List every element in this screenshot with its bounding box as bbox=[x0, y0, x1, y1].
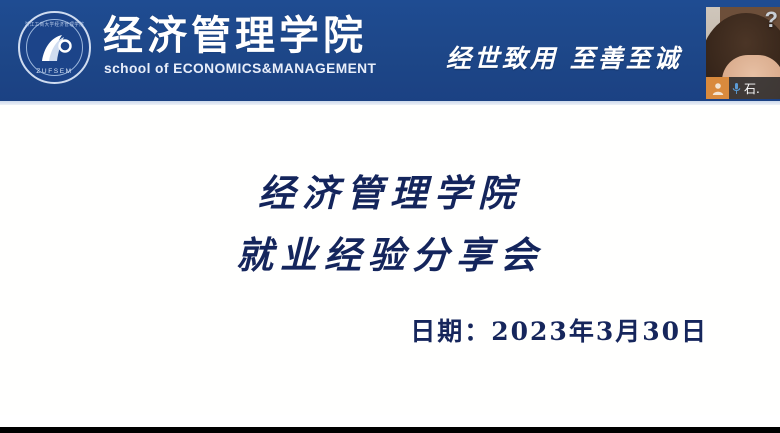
bottom-letterbox-bar bbox=[0, 427, 780, 433]
person-avatar-icon bbox=[712, 82, 724, 95]
emblem-ring-text-cn: 浙江工商大学经济管理学院 bbox=[23, 21, 85, 28]
presentation-viewer: 浙江工商大学经济管理学院 ZUFSEM 经济管理学院 school of ECO… bbox=[0, 0, 780, 433]
emblem-swoosh-mark bbox=[38, 33, 72, 63]
school-motto: 经世致用 至善至诚 bbox=[446, 44, 682, 74]
school-name-en: school of ECONOMICS&MANAGEMENT bbox=[104, 61, 376, 76]
participant-name: 石. bbox=[744, 80, 760, 97]
slide-date-value: 2023年3月30日 bbox=[491, 317, 708, 346]
emblem-ring-text-en: ZUFSEM bbox=[20, 68, 89, 75]
school-name-cn: 经济管理学院 bbox=[103, 14, 367, 58]
microphone-icon bbox=[732, 82, 741, 95]
slide-header-band: 浙江工商大学经济管理学院 ZUFSEM 经济管理学院 school of ECO… bbox=[0, 0, 780, 101]
slide-date: 日期：2023年3月30日 bbox=[410, 317, 708, 347]
help-question-icon[interactable]: ? bbox=[765, 9, 778, 31]
horizontal-scrollbar-track[interactable] bbox=[0, 415, 780, 427]
page-title: 经济管理学院 就业经验分享会 bbox=[0, 162, 780, 286]
slide-content: 经济管理学院 就业经验分享会 日期：2023年3月30日 经管新青年 1 bbox=[0, 105, 780, 415]
avatar bbox=[706, 77, 729, 99]
participant-name-bar: 石. bbox=[706, 77, 780, 99]
video-participant-tile[interactable]: ? 石. bbox=[706, 7, 780, 99]
school-emblem-logo: 浙江工商大学经济管理学院 ZUFSEM bbox=[18, 11, 91, 84]
slide-title-line-2: 就业经验分享会 bbox=[0, 224, 780, 286]
slide-date-label: 日期： bbox=[410, 317, 491, 346]
participant-name-area: 石. bbox=[729, 77, 780, 99]
slide-title-line-1: 经济管理学院 bbox=[258, 171, 522, 215]
